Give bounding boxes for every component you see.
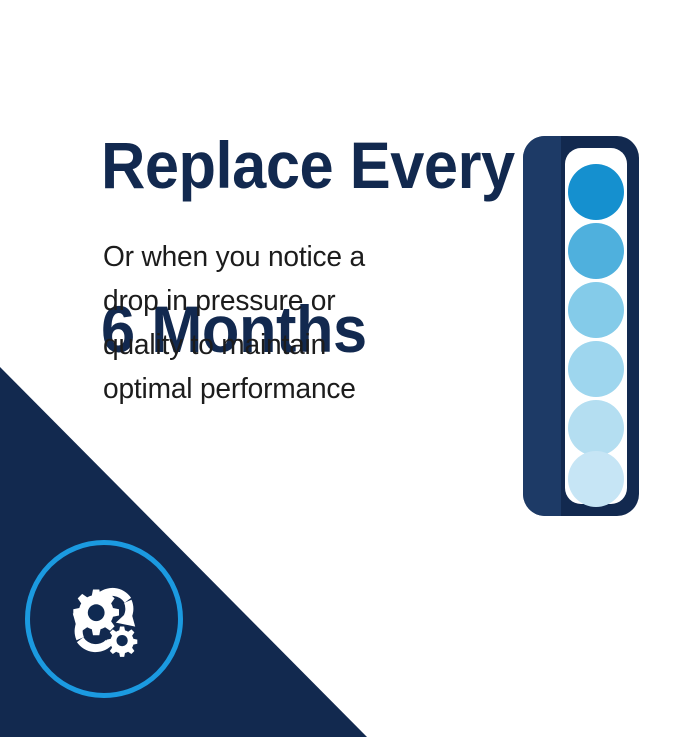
headline-line-1: Replace Every	[101, 124, 538, 206]
gears-recycle-glyph	[49, 564, 159, 674]
cartridge-highlight	[523, 136, 561, 516]
cartridge-dot	[568, 400, 624, 456]
cartridge-dot	[568, 341, 624, 397]
cartridge-dot	[568, 223, 624, 279]
cartridge-dot	[568, 451, 624, 507]
gears-recycle-icon	[25, 540, 183, 698]
infographic-canvas: Replace Every 6 Months Or when you notic…	[0, 0, 679, 737]
cartridge-dot	[568, 164, 624, 220]
body-copy: Or when you notice a drop in pressure or…	[103, 235, 433, 411]
cartridge-graphic	[521, 134, 641, 518]
water-filter-cartridge	[521, 134, 641, 518]
cartridge-dot	[568, 282, 624, 338]
